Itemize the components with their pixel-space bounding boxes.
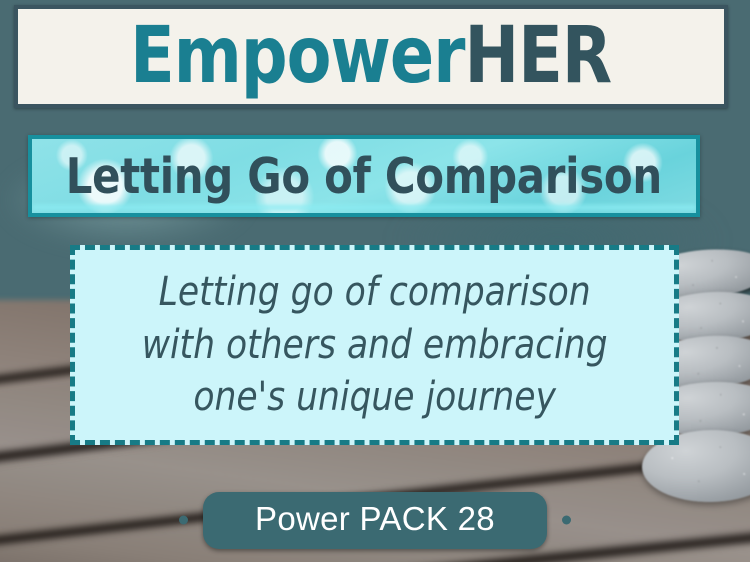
quote-line-1: Letting go of comparison <box>142 266 608 319</box>
quote-text: Letting go of comparison with others and… <box>142 266 608 424</box>
subtitle-text: Letting Go of Comparison <box>66 148 662 205</box>
badge-label: Power PACK 28 <box>255 500 495 537</box>
quote-line-2: with others and embracing <box>142 319 608 372</box>
quote-line-3: one's unique journey <box>142 371 608 424</box>
brand-title-secondary: HER <box>465 11 612 101</box>
badge-container: Power PACK 28 <box>0 492 750 549</box>
quote-box: Letting go of comparison with others and… <box>70 245 679 445</box>
brand-title-primary: Empower <box>130 11 464 101</box>
badge-knob-right-icon <box>562 516 571 525</box>
subtitle-banner: Letting Go of Comparison <box>28 135 700 217</box>
brand-title: EmpowerHER <box>130 19 611 93</box>
badge-knob-left-icon <box>179 516 188 525</box>
brand-title-banner: EmpowerHER <box>14 5 728 108</box>
poster-canvas: EmpowerHER Letting Go of Comparison Lett… <box>0 0 750 562</box>
power-pack-badge: Power PACK 28 <box>203 492 547 549</box>
